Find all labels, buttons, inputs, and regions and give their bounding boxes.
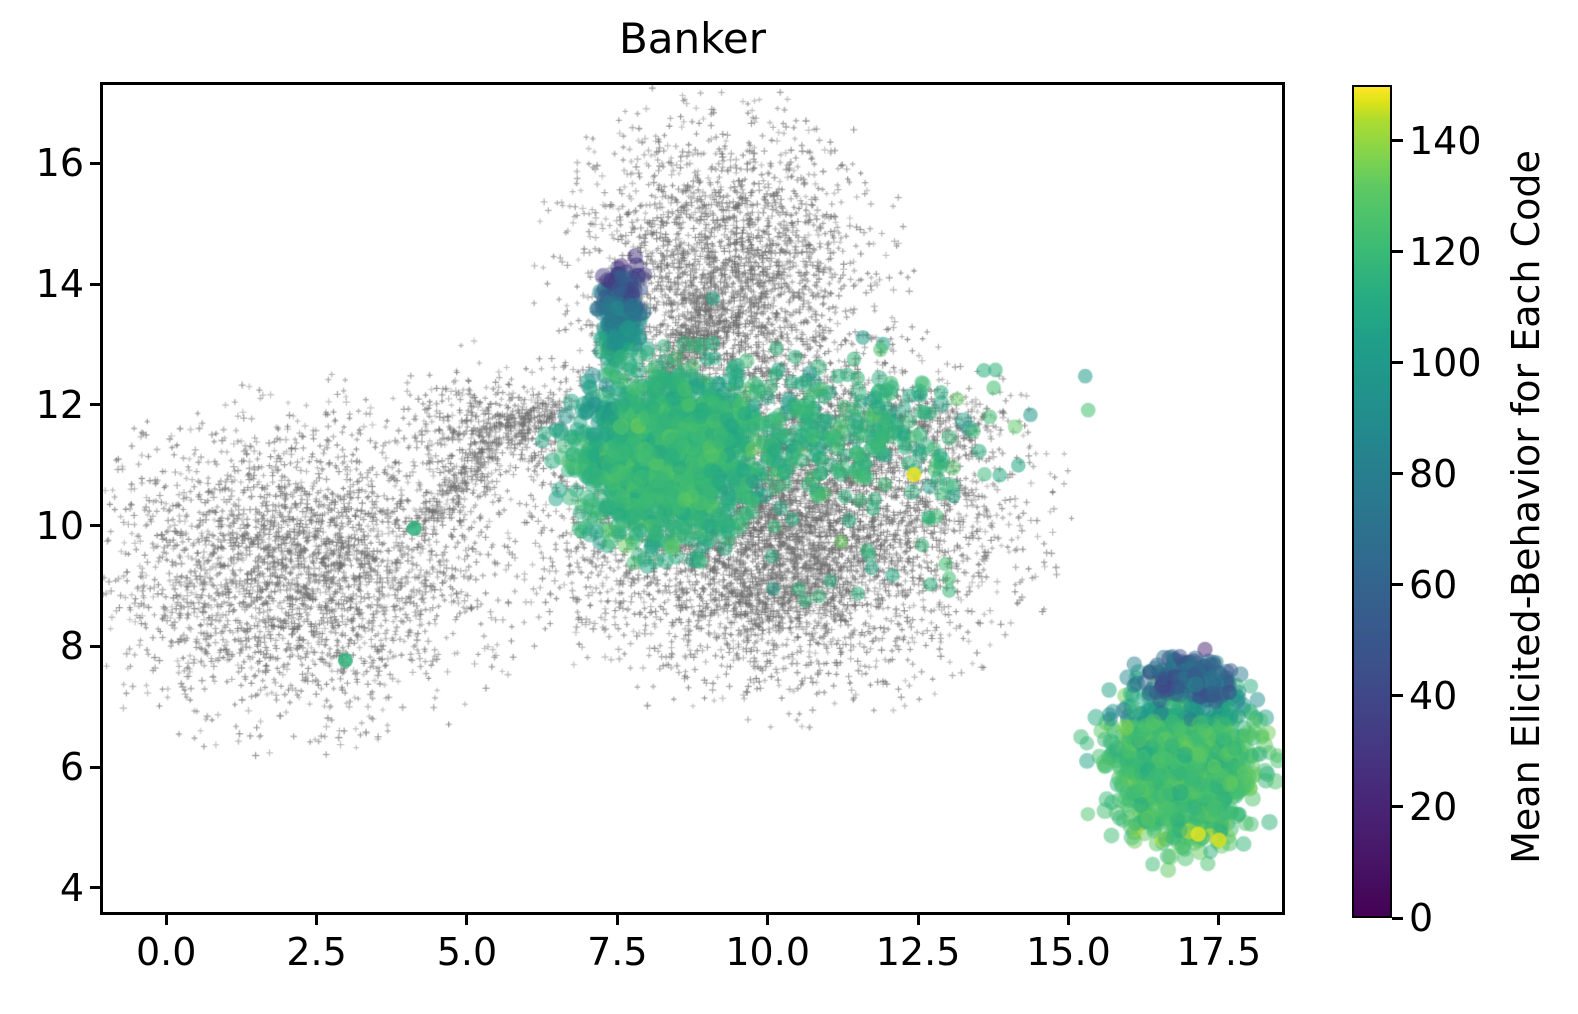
y-tick-label: 6 xyxy=(60,745,84,789)
y-tick-mark xyxy=(90,162,100,165)
x-tick-mark xyxy=(1067,915,1070,925)
y-tick-label: 12 xyxy=(36,383,84,427)
colorbar: 020406080100120140 xyxy=(1352,85,1392,918)
x-tick-mark xyxy=(766,915,769,925)
colorbar-tick-mark xyxy=(1392,805,1403,808)
y-tick-label: 8 xyxy=(60,624,84,668)
y-tick-label: 14 xyxy=(36,262,84,306)
figure-root: Banker 0.02.55.07.510.012.515.017.5 4681… xyxy=(0,0,1578,1014)
x-tick-mark xyxy=(315,915,318,925)
colorbar-tick-label: 80 xyxy=(1409,452,1457,496)
x-tick-label: 10.0 xyxy=(725,930,810,974)
x-tick-label: 17.5 xyxy=(1177,930,1262,974)
colorbar-tick-mark xyxy=(1392,361,1403,364)
colorbar-tick-label: 20 xyxy=(1409,785,1457,829)
x-tick-label: 0.0 xyxy=(136,930,196,974)
colorbar-tick-mark xyxy=(1392,472,1403,475)
y-tick-mark xyxy=(90,283,100,286)
y-tick-mark xyxy=(90,403,100,406)
colorbar-tick-label: 60 xyxy=(1409,563,1457,607)
y-tick-label: 4 xyxy=(60,866,84,910)
y-tick-mark xyxy=(90,766,100,769)
page-title: Banker xyxy=(100,18,1285,60)
x-tick-mark xyxy=(917,915,920,925)
y-tick-mark xyxy=(90,524,100,527)
colorbar-tick-label: 120 xyxy=(1409,230,1482,274)
x-tick-label: 15.0 xyxy=(1026,930,1111,974)
colorbar-tick-mark xyxy=(1392,250,1403,253)
x-tick-mark xyxy=(465,915,468,925)
y-tick-mark xyxy=(90,645,100,648)
colorbar-tick-mark xyxy=(1392,694,1403,697)
x-tick-label: 7.5 xyxy=(587,930,647,974)
x-tick-mark xyxy=(1217,915,1220,925)
plot-axes-frame xyxy=(100,82,1285,915)
colorbar-gradient xyxy=(1352,85,1392,918)
x-tick-mark xyxy=(616,915,619,925)
x-tick-label: 5.0 xyxy=(437,930,497,974)
y-tick-label: 16 xyxy=(36,141,84,185)
x-tick-mark xyxy=(165,915,168,925)
x-tick-label: 2.5 xyxy=(286,930,346,974)
scatter-plot-canvas xyxy=(103,85,1282,912)
colorbar-tick-label: 100 xyxy=(1409,341,1482,385)
colorbar-tick-mark xyxy=(1392,583,1403,586)
colorbar-tick-mark xyxy=(1392,139,1403,142)
y-tick-label: 10 xyxy=(36,504,84,548)
y-tick-mark xyxy=(90,886,100,889)
colorbar-tick-label: 40 xyxy=(1409,674,1457,718)
colorbar-tick-label: 0 xyxy=(1409,896,1433,940)
colorbar-tick-mark xyxy=(1392,917,1403,920)
colorbar-tick-label: 140 xyxy=(1409,119,1482,163)
colorbar-axis-label: Mean Elicited-Behavior for Each Code xyxy=(1496,0,1556,1014)
x-tick-label: 12.5 xyxy=(876,930,961,974)
colorbar-axis-label-text: Mean Elicited-Behavior for Each Code xyxy=(1504,150,1548,864)
